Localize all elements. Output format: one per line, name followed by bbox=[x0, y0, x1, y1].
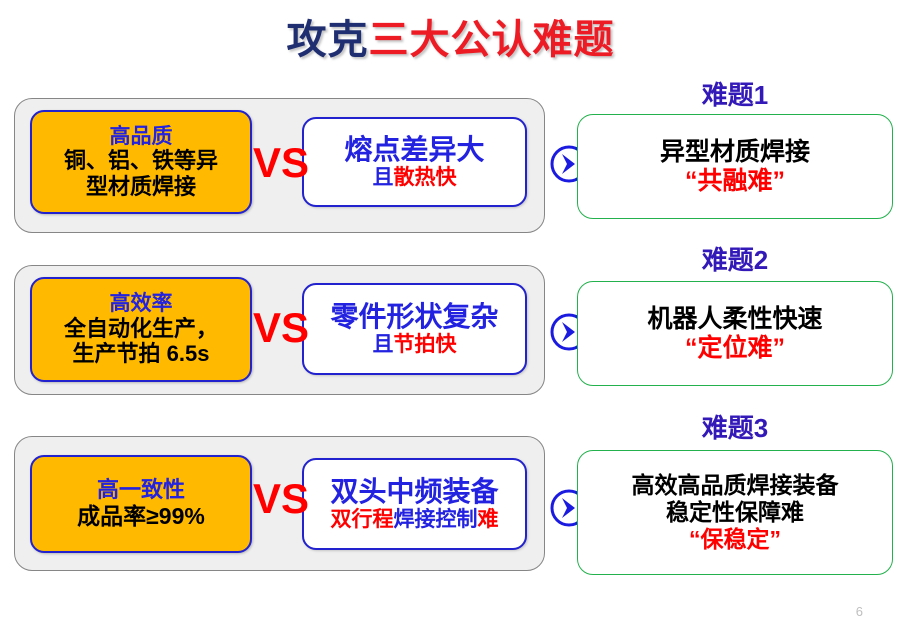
challenge-box-row-3[interactable]: 双头中频装备 双行程焊接控制难 bbox=[302, 458, 527, 550]
vs-marker-row-1: VS bbox=[253, 142, 309, 184]
requirement-box-row-2[interactable]: 高效率 全自动化生产， 生产节拍 6.5s bbox=[30, 277, 252, 382]
problem-line2-row-2: “定位难” bbox=[586, 334, 884, 363]
requirement-body-line1-row-1: 铜、铝、铁等异 bbox=[38, 148, 244, 174]
challenge-sub-blue-row-2: 且 bbox=[373, 333, 394, 356]
challenge-sub-red-row-1: 散热快 bbox=[394, 166, 457, 189]
requirement-body-line2-row-2: 生产节拍 6.5s bbox=[38, 341, 244, 367]
problem-line1-row-2: 机器人柔性快速 bbox=[586, 305, 884, 334]
challenge-sub-row-3: 双行程焊接控制难 bbox=[308, 508, 521, 531]
problem-box-1[interactable]: 异型材质焊接 “共融难” bbox=[577, 114, 893, 219]
requirement-box-row-1[interactable]: 高品质 铜、铝、铁等异 型材质焊接 bbox=[30, 110, 252, 214]
problem-label-3: 难题3 bbox=[577, 413, 893, 443]
requirement-head-row-3: 高一致性 bbox=[38, 478, 244, 503]
problem-label-1: 难题1 bbox=[577, 80, 893, 110]
problem-line2-row-3: 稳定性保障难 bbox=[586, 499, 884, 526]
vs-marker-row-2: VS bbox=[253, 307, 309, 349]
requirement-head-row-1: 高品质 bbox=[38, 125, 244, 149]
problem-box-2[interactable]: 机器人柔性快速 “定位难” bbox=[577, 281, 893, 386]
page-title: 攻克三大公认难题 bbox=[0, 16, 901, 64]
challenge-sub-row-2: 且节拍快 bbox=[310, 333, 519, 356]
challenge-box-row-1[interactable]: 熔点差异大 且散热快 bbox=[302, 117, 527, 207]
problem-line2-row-1: “共融难” bbox=[586, 167, 884, 196]
requirement-body-line1-row-3: 成品率≥99% bbox=[38, 503, 244, 530]
vs-marker-row-3: VS bbox=[253, 478, 309, 520]
page-number: 6 bbox=[856, 604, 863, 620]
challenge-head-row-1: 熔点差异大 bbox=[310, 135, 519, 166]
challenge-box-row-2[interactable]: 零件形状复杂 且节拍快 bbox=[302, 283, 527, 375]
challenge-sub-blue-row-1: 且 bbox=[373, 166, 394, 189]
problem-box-3[interactable]: 高效高品质焊接装备 稳定性保障难 “保稳定” bbox=[577, 450, 893, 575]
requirement-head-row-2: 高效率 bbox=[38, 292, 244, 316]
challenge-sub-red-a-row-3: 双行程 bbox=[331, 508, 394, 531]
problem-line1-row-1: 异型材质焊接 bbox=[586, 138, 884, 167]
page-title-emphasis: 三大公认难题 bbox=[369, 18, 615, 62]
challenge-sub-blue-row-3: 焊接控制 bbox=[394, 508, 478, 531]
problem-line3-row-3: “保稳定” bbox=[586, 526, 884, 553]
requirement-box-row-3[interactable]: 高一致性 成品率≥99% bbox=[30, 455, 252, 553]
challenge-head-row-3: 双头中频装备 bbox=[308, 477, 521, 508]
requirement-body-line1-row-2: 全自动化生产， bbox=[38, 316, 244, 342]
problem-line1-row-3: 高效高品质焊接装备 bbox=[586, 472, 884, 499]
challenge-head-row-2: 零件形状复杂 bbox=[310, 302, 519, 333]
problem-label-2: 难题2 bbox=[577, 245, 893, 275]
page-title-prefix: 攻克 bbox=[287, 18, 369, 62]
challenge-sub-red-b-row-3: 难 bbox=[478, 508, 499, 531]
challenge-sub-red-row-2: 节拍快 bbox=[394, 333, 457, 356]
challenge-sub-row-1: 且散热快 bbox=[310, 166, 519, 189]
slide-canvas: 攻克三大公认难题 高品质 铜、铝、铁等异 型材质焊接 VS 熔点差异大 且散热快… bbox=[0, 0, 901, 628]
requirement-body-line2-row-1: 型材质焊接 bbox=[38, 174, 244, 200]
